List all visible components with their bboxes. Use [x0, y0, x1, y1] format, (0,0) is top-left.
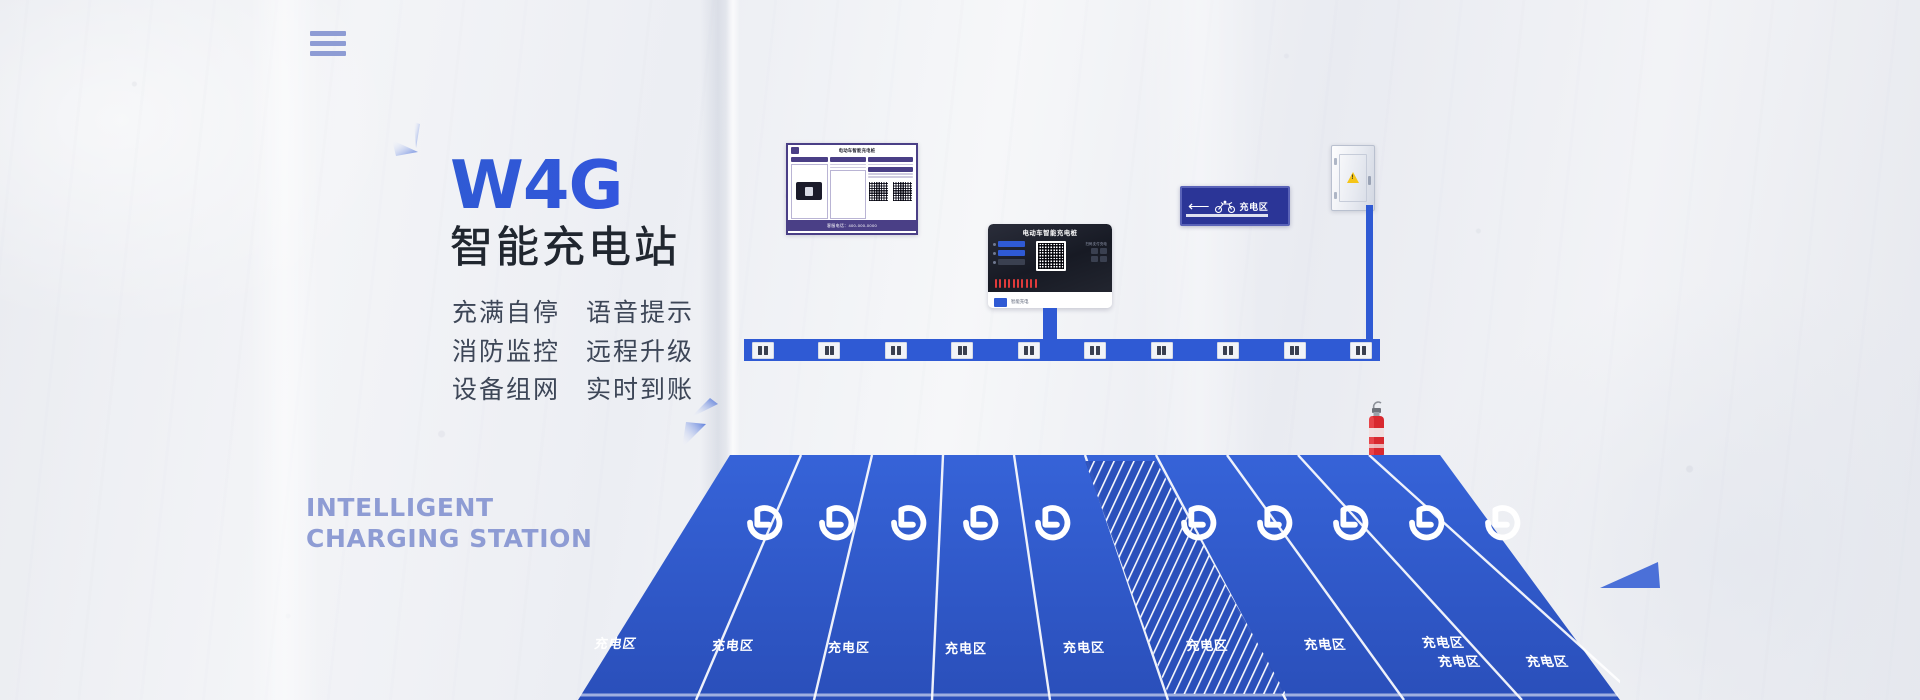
bay-labels: 充电区 充电区 充电区 充电区 充电区 充电区 充电区 充电区 充电区 充电区 [560, 455, 1620, 700]
pile-button-icon[interactable] [1091, 256, 1098, 262]
pile-button-icon[interactable] [1100, 256, 1107, 262]
pile-right-controls: 扫码支付充电 [1077, 241, 1107, 271]
qr-code-icon [868, 181, 889, 202]
led-icon [1035, 279, 1037, 288]
wall-highlight-left [250, 0, 320, 700]
poster-text-line [868, 164, 913, 166]
pile-left-controls [993, 241, 1025, 271]
led-icon [999, 279, 1001, 288]
direction-sign-underline [1186, 214, 1268, 217]
led-icon [995, 279, 997, 288]
outlet-rail [744, 339, 1380, 361]
poster-device-illustration [791, 164, 828, 220]
bay-label: 充电区 [945, 638, 987, 657]
hero-banner: W4G 智能充电站 充满自停 语音提示 消防监控 远程升级 设备组网 实时到账 … [0, 0, 1920, 700]
high-voltage-warning-icon [1347, 172, 1359, 183]
poster-tag [868, 157, 913, 162]
poster-column-mid [830, 157, 867, 219]
pile-support-stem [1043, 308, 1057, 343]
outlet-rail-sockets [744, 339, 1380, 361]
charging-pile-device: 电动车智能充电桩 [988, 224, 1112, 308]
pile-brand-text: 智能充电 [1011, 299, 1029, 305]
led-icon [1008, 279, 1010, 288]
hamburger-bar [310, 41, 346, 46]
english-line-2: CHARGING STATION [306, 524, 593, 555]
hamburger-bar [310, 51, 346, 56]
pile-indicator-row [993, 241, 1025, 247]
power-socket-icon [951, 342, 973, 359]
pile-side-label: 扫码支付充电 [1085, 241, 1107, 246]
poster-text-line [868, 173, 913, 175]
hamburger-menu-icon[interactable] [310, 31, 346, 56]
feature-item: 远程升级 [586, 335, 694, 369]
information-poster: 电动车智能充电桩 [786, 143, 918, 235]
pile-qr-area [1029, 241, 1073, 271]
power-socket-icon [1217, 342, 1239, 359]
arrow-left-icon: ⟵ [1188, 199, 1210, 214]
feature-item: 设备组网 [452, 373, 560, 407]
pile-indicator-row [993, 250, 1025, 256]
pile-display-bar [998, 259, 1025, 265]
device-image [796, 182, 822, 200]
feature-item: 消防监控 [452, 335, 560, 369]
pile-led-strip [995, 279, 1037, 288]
direction-sign-label: 充电区 [1240, 200, 1269, 213]
poster-column-right [868, 157, 913, 219]
pile-display-panel: 电动车智能充电桩 [988, 224, 1112, 292]
power-socket-icon [1284, 342, 1306, 359]
pile-display-bar [998, 241, 1025, 247]
feature-item: 语音提示 [586, 296, 694, 330]
power-socket-icon [1350, 342, 1372, 359]
bay-label: 充电区 [1302, 634, 1347, 653]
pile-controls: 扫码支付充电 [993, 241, 1107, 271]
power-socket-icon [818, 342, 840, 359]
hero-subtitle: 智能充电站 [450, 225, 750, 271]
led-icon [1030, 279, 1032, 288]
bay-label: 充电区 [593, 633, 639, 652]
power-socket-icon [752, 342, 774, 359]
bay-label: 充电区 [1436, 651, 1483, 670]
english-tagline: INTELLIGENT CHARGING STATION [306, 493, 593, 554]
english-line-1: INTELLIGENT [306, 493, 593, 524]
feature-list: 充满自停 语音提示 消防监控 远程升级 设备组网 实时到账 [452, 296, 694, 407]
led-icon [1021, 279, 1023, 288]
poster-tag [868, 167, 913, 172]
bay-label: 充电区 [1185, 635, 1229, 654]
bay-label: 充电区 [1063, 637, 1106, 656]
parking-floor: 充电区 充电区 充电区 充电区 充电区 充电区 充电区 充电区 充电区 充电区 [560, 455, 1620, 700]
poster-header: 电动车智能充电桩 [788, 145, 916, 156]
poster-column-left [791, 157, 828, 219]
status-dot-icon [993, 243, 996, 246]
pile-title: 电动车智能充电桩 [993, 228, 1107, 237]
power-riser-conduit [1366, 205, 1373, 345]
electrical-cabinet [1331, 145, 1375, 211]
e-bike-icon [1214, 200, 1236, 213]
status-dot-icon [993, 252, 996, 255]
led-icon [1013, 279, 1015, 288]
pile-brand-footer: 智能充电 [988, 292, 1112, 308]
cabinet-lock-icon [1368, 176, 1371, 185]
poster-logo-icon [791, 147, 799, 154]
poster-body [788, 156, 916, 220]
cabinet-hinge [1334, 158, 1337, 165]
poster-text-line [868, 176, 913, 178]
led-icon [1026, 279, 1028, 288]
led-icon [1004, 279, 1006, 288]
status-dot-icon [993, 261, 996, 264]
power-socket-icon [1018, 342, 1040, 359]
poster-footer: 客服电话：400-000-0000 [788, 220, 916, 231]
cabinet-hinge [1334, 192, 1337, 199]
pile-button-icon[interactable] [1091, 248, 1098, 254]
bay-label: 充电区 [1523, 651, 1570, 670]
bay-label: 充电区 [711, 635, 755, 654]
hamburger-bar [310, 31, 346, 36]
poster-tag [830, 157, 867, 162]
pile-button-icon[interactable] [1100, 248, 1107, 254]
pile-indicator-row [993, 259, 1025, 265]
bay-label: 充电区 [828, 637, 871, 656]
poster-text-line [830, 164, 867, 166]
brand-name: W4G [450, 152, 750, 219]
pile-display-bar [998, 250, 1025, 256]
power-socket-icon [885, 342, 907, 359]
hero-title-block: W4G 智能充电站 [450, 152, 750, 271]
power-socket-icon [1084, 342, 1106, 359]
power-socket-icon [1151, 342, 1173, 359]
poster-tag [791, 157, 828, 162]
feature-item: 实时到账 [586, 373, 694, 407]
direction-sign: ⟵ 充电区 [1180, 186, 1290, 226]
brand-logo-icon [994, 298, 1007, 307]
led-icon [1017, 279, 1019, 288]
poster-steps-box [830, 170, 867, 219]
device-screen [805, 187, 813, 196]
poster-text-line [830, 167, 867, 169]
feature-item: 充满自停 [452, 296, 560, 330]
bay-label: 充电区 [1420, 632, 1466, 651]
poster-title: 电动车智能充电桩 [801, 148, 913, 154]
qr-code-icon [892, 181, 913, 202]
qr-code-icon[interactable] [1036, 241, 1066, 271]
decor-shard-top [392, 122, 432, 164]
